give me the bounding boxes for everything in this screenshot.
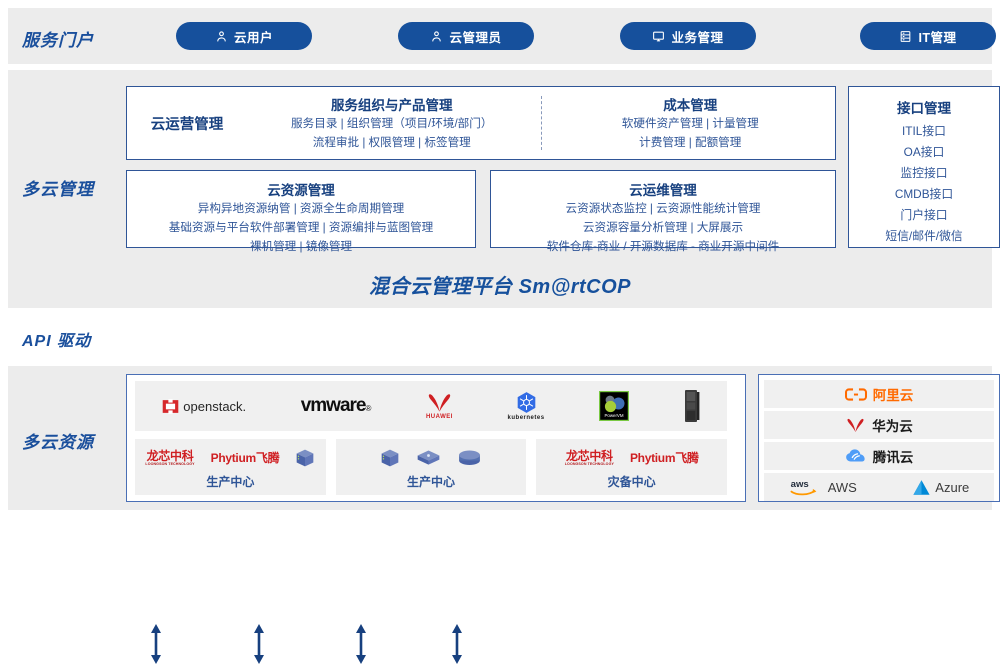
loongson-logo: 龙芯中科 LOONGSON TECHNOLOGY	[145, 450, 194, 467]
portal-pill-business-mgmt[interactable]: 业务管理	[620, 22, 756, 50]
cost-mgmt-group: 成本管理 软硬件资产管理 | 计量管理 计费管理 | 配额管理	[546, 94, 836, 152]
group-line: 计费管理 | 配额管理	[552, 133, 830, 152]
box-title: 接口管理	[849, 97, 999, 117]
vendor-logo-band: openstack. vmware ® HUAWEI	[135, 381, 727, 431]
public-cloud-label: 腾讯云	[873, 446, 914, 466]
datacenter-name: 生产中心	[407, 473, 455, 490]
tencentcloud-logo	[845, 448, 867, 464]
interface-item: 短信/邮件/微信	[849, 226, 999, 247]
portal-pill-it-mgmt[interactable]: IT管理	[860, 22, 996, 50]
multicloud-management-section: 云运营管理 服务组织与产品管理 服务目录 | 组织管理（项目/环境/部门） 流程…	[8, 70, 992, 308]
service-portal-section: 云用户 云管理员 业务管理 IT管理	[8, 8, 992, 64]
phytium-wordmark: Phytium飞腾	[630, 452, 699, 464]
powervm-logo-mark: PowerVM	[599, 391, 629, 421]
user-icon	[215, 30, 228, 43]
cloud-resource-mgmt-box: 云资源管理 异构异地资源纳管 | 资源全生命周期管理 基础资源与平台软件部署管理…	[126, 170, 476, 248]
datacenter-group: 龙芯中科 LOONGSON TECHNOLOGY Phytium飞腾 灾备中心	[536, 439, 727, 495]
portal-pill-label: 云用户	[234, 27, 273, 46]
row-label-multicloud-resources: 多云资源	[22, 428, 94, 453]
group-line: 软硬件资产管理 | 计量管理	[552, 114, 830, 133]
row-label-api-driven: API 驱动	[22, 327, 91, 351]
svg-text:PowerVM: PowerVM	[605, 413, 624, 418]
interface-item: ITIL接口	[849, 121, 999, 142]
box-title: 云运维管理	[491, 179, 835, 199]
box-line: 基础资源与平台软件部署管理 | 资源编排与蓝图管理	[127, 218, 475, 237]
double-arrow-vertical-icon	[449, 622, 465, 671]
cloud-oam-mgmt-box: 云运维管理 云资源状态监控 | 云资源性能统计管理 云资源容量分析管理 | 大屏…	[490, 170, 836, 248]
loongson-logo: 龙芯中科 LOONGSON TECHNOLOGY	[565, 450, 614, 467]
interface-item: CMDB接口	[849, 184, 999, 205]
phytium-logo: Phytium飞腾	[211, 452, 280, 464]
datacenter-group: 生产中心	[336, 439, 527, 495]
public-cloud-panel: 阿里云 华为云 腾讯云 aws A	[758, 374, 1000, 502]
registered-mark: ®	[366, 404, 372, 413]
phytium-wordmark: Phytium飞腾	[211, 452, 280, 464]
multicloud-resources-section: openstack. vmware ® HUAWEI	[8, 366, 992, 510]
aliyun-logo	[845, 387, 867, 402]
public-cloud-row-aws-azure[interactable]: aws AWS Azure	[764, 473, 994, 501]
vertical-dashed-divider	[541, 96, 542, 150]
group-line: 流程审批 | 权限管理 | 标签管理	[253, 133, 531, 152]
service-product-mgmt-group: 服务组织与产品管理 服务目录 | 组织管理（项目/环境/部门） 流程审批 | 权…	[247, 94, 537, 152]
aws-logo[interactable]: aws AWS	[789, 477, 857, 497]
row-label-service-portal: 服务门户	[22, 26, 94, 51]
openstack-wordmark: openstack.	[183, 399, 246, 414]
interface-item: 门户接口	[849, 205, 999, 226]
interface-mgmt-box: 接口管理 ITIL接口 OA接口 监控接口 CMDB接口 门户接口 短信/邮件/…	[848, 86, 1000, 248]
vmware-wordmark: vmware	[301, 395, 366, 417]
loongson-subtext: LOONGSON TECHNOLOGY	[565, 463, 614, 467]
double-arrow-vertical-icon	[353, 622, 369, 671]
public-cloud-row-huaweicloud[interactable]: 华为云	[764, 411, 994, 439]
datacenter-name: 灾备中心	[608, 473, 656, 490]
openstack-logo-mark	[162, 398, 179, 415]
row-label-multicloud-management: 多云管理	[22, 175, 94, 200]
huawei-logo: HUAWEI	[426, 393, 453, 420]
api-driven-section	[8, 308, 992, 366]
portal-pill-row: 云用户 云管理员 业务管理 IT管理	[148, 8, 992, 64]
datacenter-group: 龙芯中科 LOONGSON TECHNOLOGY Phytium飞腾 生产中心	[135, 439, 326, 495]
switch-icon	[416, 448, 441, 468]
server-rack-photo	[684, 389, 700, 423]
group-title: 成本管理	[552, 94, 830, 114]
cloud-operation-label: 云运营管理	[127, 113, 247, 134]
huawei-logo-mark	[426, 393, 453, 413]
portal-pill-cloud-user[interactable]: 云用户	[176, 22, 312, 50]
public-cloud-label: 阿里云	[873, 384, 914, 404]
portal-pill-label: IT管理	[918, 27, 956, 46]
box-line: 软件仓库-商业 / 开源数据库 - 商业开源中间件	[491, 237, 835, 256]
azure-logo[interactable]: Azure	[912, 479, 969, 496]
azure-label: Azure	[935, 480, 969, 495]
aws-logo-mark: aws	[789, 477, 823, 497]
public-cloud-row-tencentcloud[interactable]: 腾讯云	[764, 442, 994, 470]
group-line: 服务目录 | 组织管理（项目/环境/部门）	[253, 114, 531, 133]
loongson-wordmark: 龙芯中科	[566, 450, 613, 462]
powervm-logo: PowerVM	[599, 391, 629, 421]
openstack-logo: openstack.	[162, 398, 246, 415]
portal-pill-label: 云管理员	[449, 27, 501, 46]
box-line: 异构异地资源纳管 | 资源全生命周期管理	[127, 199, 475, 218]
platform-title: 混合云管理平台 Sm@rtCOP	[8, 270, 992, 299]
public-cloud-label: 华为云	[872, 415, 913, 435]
azure-logo-mark	[912, 479, 931, 496]
server-rack-icon	[899, 30, 912, 43]
box-line: 云资源容量分析管理 | 大屏展示	[491, 218, 835, 237]
box-title: 云资源管理	[127, 179, 475, 199]
kubernetes-wordmark: kubernetes	[508, 415, 545, 421]
user-admin-icon	[430, 30, 443, 43]
monitor-icon	[652, 30, 665, 43]
storage-disk-icon	[457, 449, 482, 467]
box-line: 裸机管理 | 镜像管理	[127, 237, 475, 256]
private-resource-panel: openstack. vmware ® HUAWEI	[126, 374, 746, 502]
double-arrow-vertical-icon	[251, 622, 267, 671]
portal-pill-cloud-admin[interactable]: 云管理员	[398, 22, 534, 50]
server-cube-icon	[380, 448, 400, 468]
kubernetes-logo: kubernetes	[508, 391, 545, 421]
box-line: 云资源状态监控 | 云资源性能统计管理	[491, 199, 835, 218]
datacenter-row: 龙芯中科 LOONGSON TECHNOLOGY Phytium飞腾 生产中心	[135, 439, 727, 495]
interface-item: OA接口	[849, 142, 999, 163]
loongson-wordmark: 龙芯中科	[147, 450, 194, 462]
group-title: 服务组织与产品管理	[253, 94, 531, 114]
interface-item: 监控接口	[849, 163, 999, 184]
phytium-logo: Phytium飞腾	[630, 452, 699, 464]
huawei-wordmark: HUAWEI	[426, 414, 453, 420]
svg-text:aws: aws	[790, 479, 808, 490]
kubernetes-logo-mark	[515, 391, 538, 414]
double-arrow-vertical-icon	[148, 622, 164, 671]
datacenter-name: 生产中心	[206, 473, 254, 490]
aws-label: AWS	[828, 480, 857, 495]
cloud-operation-box: 云运营管理 服务组织与产品管理 服务目录 | 组织管理（项目/环境/部门） 流程…	[126, 86, 836, 160]
server-cube-icon	[295, 448, 315, 468]
huaweicloud-logo	[845, 418, 866, 433]
public-cloud-row-aliyun[interactable]: 阿里云	[764, 380, 994, 408]
loongson-subtext: LOONGSON TECHNOLOGY	[145, 463, 194, 467]
vmware-logo: vmware ®	[301, 395, 372, 417]
portal-pill-label: 业务管理	[671, 27, 723, 46]
